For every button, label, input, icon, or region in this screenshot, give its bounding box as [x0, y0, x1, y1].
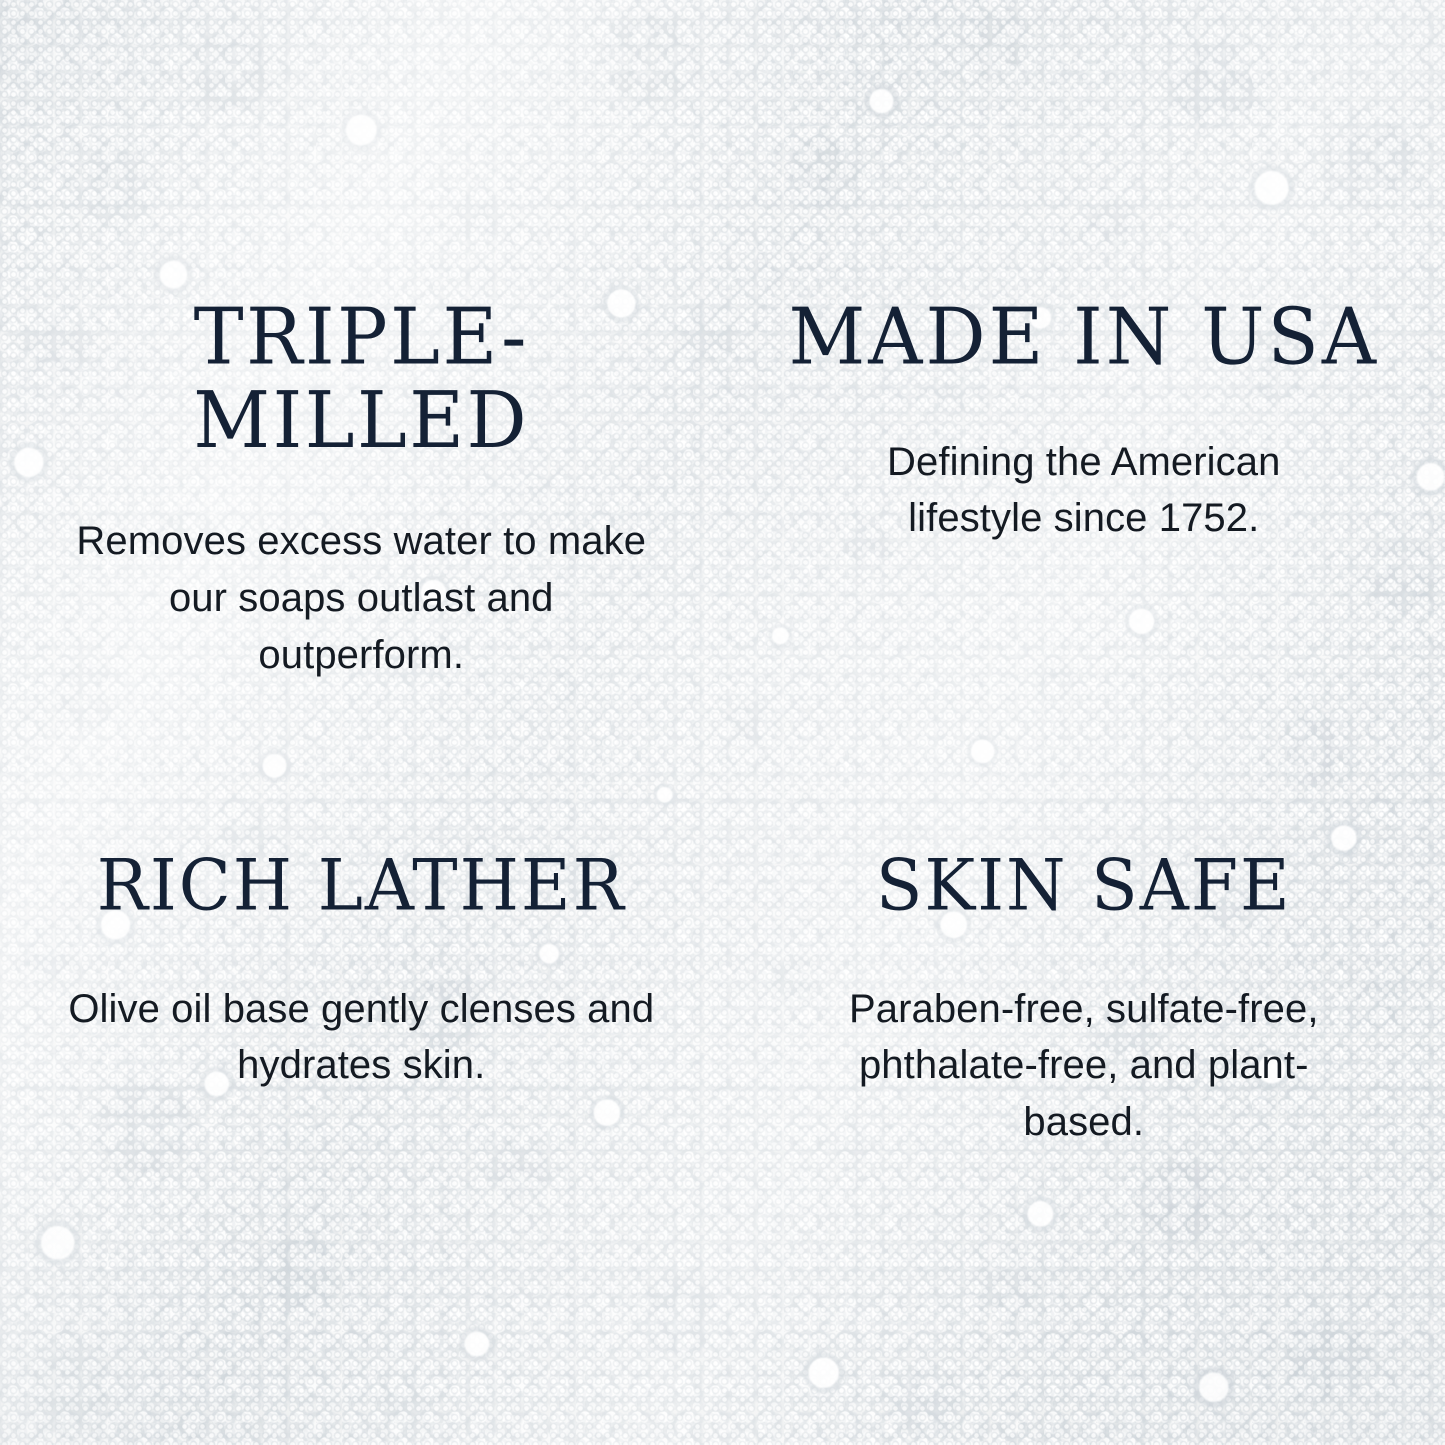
feature-rich-lather: RICH LATHER Olive oil base gently clense…: [0, 723, 723, 1445]
feature-rich-lather-heading: RICH LATHER: [97, 849, 626, 924]
feature-triple-milled: TRIPLE-MILLED Removes excess water to ma…: [0, 0, 723, 723]
feature-made-in-usa-description: Defining the American lifestyle since 17…: [824, 434, 1344, 548]
feature-rich-lather-description: Olive oil base gently clenses and hydrat…: [46, 981, 676, 1095]
feature-skin-safe-description: Paraben-free, sulfate-free, phthalate-fr…: [799, 981, 1369, 1151]
feature-made-in-usa: MADE IN USA Defining the American lifest…: [723, 0, 1445, 723]
feature-triple-milled-description: Removes excess water to make our soaps o…: [61, 513, 661, 683]
feature-triple-milled-heading: TRIPLE-MILLED: [26, 296, 697, 461]
feature-grid-graphic: TRIPLE-MILLED Removes excess water to ma…: [0, 0, 1445, 1445]
feature-skin-safe: SKIN SAFE Paraben-free, sulfate-free, ph…: [723, 723, 1445, 1445]
feature-made-in-usa-heading: MADE IN USA: [788, 296, 1379, 379]
features-grid: TRIPLE-MILLED Removes excess water to ma…: [0, 0, 1445, 1445]
feature-skin-safe-heading: SKIN SAFE: [876, 849, 1292, 924]
